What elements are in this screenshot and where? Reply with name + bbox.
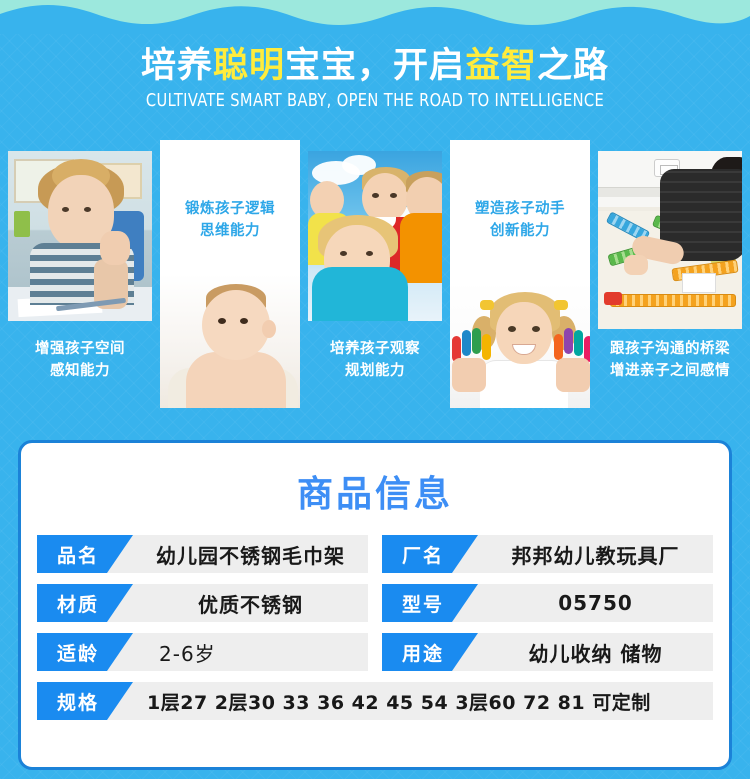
spec-value: 幼儿园不锈钢毛巾架 <box>133 535 368 573</box>
benefit-caption-5-line-1: 跟孩子沟通的桥梁 <box>590 338 750 360</box>
page-subtitle: CULTIVATE SMART BABY, OPEN THE ROAD TO I… <box>26 91 724 111</box>
benefit-panel-3: 培养孩子观察 规划能力 <box>300 140 450 408</box>
benefit-photo-group-of-kids-smiling <box>308 151 442 321</box>
benefit-panel-1: 增强孩子空间 感知能力 <box>0 140 160 408</box>
page-title: 培养聪明宝宝，开启益智之路 <box>0 44 750 88</box>
spec-cell-changming: 厂名 邦邦幼儿教玩具厂 <box>382 535 713 573</box>
benefit-caption-5: 跟孩子沟通的桥梁 增进亲子之间感情 <box>590 338 750 382</box>
spec-label: 材质 <box>37 584 133 622</box>
headline-highlight-1: 聪明 <box>213 46 285 86</box>
benefit-caption-4-line-1: 塑造孩子动手 <box>450 198 590 220</box>
benefit-caption-4: 塑造孩子动手 创新能力 <box>450 198 590 242</box>
spec-label: 用途 <box>382 633 478 671</box>
product-info-title: 商品信息 <box>21 465 729 517</box>
benefit-caption-3: 培养孩子观察 规划能力 <box>300 338 450 382</box>
product-info-card: 商品信息 品名 幼儿园不锈钢毛巾架 厂名 邦邦幼儿教玩具厂 材质 优质不锈钢 <box>18 440 732 770</box>
spec-value: 05750 <box>478 584 713 622</box>
benefit-caption-2-line-2: 思维能力 <box>160 220 300 242</box>
spec-label: 规格 <box>37 682 133 720</box>
spec-value: 优质不锈钢 <box>133 584 368 622</box>
headline-part-1: 培养 <box>141 46 213 86</box>
benefit-panel-2: 锻炼孩子逻辑 思维能力 <box>160 140 300 408</box>
page-header: 培养聪明宝宝，开启益智之路 CULTIVATE SMART BABY, OPEN… <box>0 34 750 134</box>
spec-cell-yongtu: 用途 幼儿收纳 储物 <box>382 633 713 671</box>
top-wave-decoration <box>0 0 750 34</box>
headline-part-2: 宝宝， <box>285 46 393 86</box>
product-detail-page: 培养聪明宝宝，开启益智之路 CULTIVATE SMART BABY, OPEN… <box>0 0 750 779</box>
spec-label: 厂名 <box>382 535 478 573</box>
spec-value: 2-6岁 <box>133 633 368 671</box>
benefit-photo-child-playing-toy-track <box>598 151 742 329</box>
spec-label: 品名 <box>37 535 133 573</box>
spec-cell-shiling: 适龄 2-6岁 <box>37 633 368 671</box>
benefit-caption-1-line-2: 感知能力 <box>0 360 160 382</box>
benefit-photo-baby-looking-up <box>160 274 300 408</box>
benefit-caption-3-line-2: 规划能力 <box>300 360 450 382</box>
spec-label: 型号 <box>382 584 478 622</box>
benefit-caption-2: 锻炼孩子逻辑 思维能力 <box>160 198 300 242</box>
benefit-photo-boy-thinking-at-desk <box>8 151 152 321</box>
benefit-panel-5: 跟孩子沟通的桥梁 增进亲子之间感情 <box>590 140 750 408</box>
headline-part-3: 开启 <box>393 46 465 86</box>
product-spec-table: 品名 幼儿园不锈钢毛巾架 厂名 邦邦幼儿教玩具厂 材质 优质不锈钢 型号 057… <box>37 535 713 720</box>
spec-cell-xinghao: 型号 05750 <box>382 584 713 622</box>
benefit-caption-1-line-1: 增强孩子空间 <box>0 338 160 360</box>
benefit-caption-2-line-1: 锻炼孩子逻辑 <box>160 198 300 220</box>
benefit-caption-5-line-2: 增进亲子之间感情 <box>590 360 750 382</box>
benefit-caption-3-line-1: 培养孩子观察 <box>300 338 450 360</box>
benefits-strip: 增强孩子空间 感知能力 锻炼孩子逻辑 思维能力 <box>0 140 750 408</box>
spec-row: 材质 优质不锈钢 型号 05750 <box>37 584 713 622</box>
spec-cell-guige: 规格 1层27 2层30 33 36 42 45 54 3层60 72 81 可… <box>37 682 713 720</box>
headline-highlight-2: 益智 <box>465 46 537 86</box>
headline-part-4: 之路 <box>537 46 609 86</box>
spec-cell-caizhi: 材质 优质不锈钢 <box>37 584 368 622</box>
spec-cell-pinming: 品名 幼儿园不锈钢毛巾架 <box>37 535 368 573</box>
spec-value: 邦邦幼儿教玩具厂 <box>478 535 713 573</box>
spec-row: 规格 1层27 2层30 33 36 42 45 54 3层60 72 81 可… <box>37 682 713 720</box>
benefit-caption-4-line-2: 创新能力 <box>450 220 590 242</box>
spec-row: 品名 幼儿园不锈钢毛巾架 厂名 邦邦幼儿教玩具厂 <box>37 535 713 573</box>
benefit-panel-4: 塑造孩子动手 创新能力 <box>450 140 590 408</box>
spec-label: 适龄 <box>37 633 133 671</box>
benefit-caption-1: 增强孩子空间 感知能力 <box>0 338 160 382</box>
spec-value: 1层27 2层30 33 36 42 45 54 3层60 72 81 可定制 <box>133 682 713 720</box>
spec-value: 幼儿收纳 储物 <box>478 633 713 671</box>
spec-row: 适龄 2-6岁 用途 幼儿收纳 储物 <box>37 633 713 671</box>
benefit-photo-girl-with-painted-hands <box>450 280 590 408</box>
